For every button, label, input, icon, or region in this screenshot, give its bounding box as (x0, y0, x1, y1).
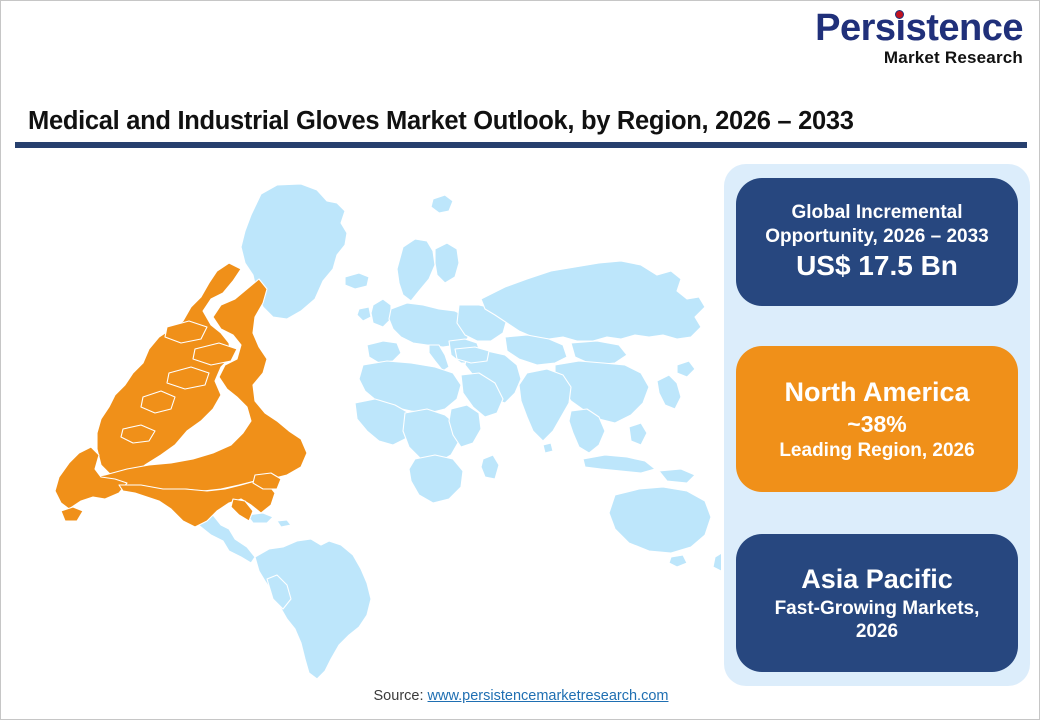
region-indonesia (583, 455, 655, 473)
region-iceland (345, 273, 369, 289)
region-korea-japan (657, 375, 681, 409)
region-svalbard (431, 195, 453, 213)
kpi-card-global-incremental-opportunity: Global Incremental Opportunity, 2026 – 2… (736, 178, 1018, 306)
region-canada (97, 263, 241, 481)
region-tasmania (669, 555, 687, 567)
world-map (15, 159, 721, 679)
infographic-page: Persistence Market Research Medical and … (0, 0, 1040, 720)
region-australia (609, 487, 711, 553)
kpi-card-3-line1: Asia Pacific (801, 563, 953, 597)
source-url-link[interactable]: www.persistencemarketresearch.com (428, 688, 669, 704)
region-papua-new-guinea (659, 469, 695, 483)
region-alaska-peninsula (61, 507, 83, 521)
kpi-card-3-line3: 2026 (856, 620, 898, 643)
company-logo: Persistence Market Research (811, 9, 1023, 66)
region-philippines (629, 423, 647, 445)
region-sri-lanka (543, 443, 553, 453)
kpi-card-2-line1: North America (784, 376, 969, 410)
kpi-card-1-value: US$ 17.5 Bn (796, 248, 958, 283)
kpi-card-fast-growing-region: Asia Pacific Fast-Growing Markets, 2026 (736, 534, 1018, 672)
kpi-card-1-line2: Opportunity, 2026 – 2033 (765, 225, 989, 248)
kpi-card-leading-region: North America ~38% Leading Region, 2026 (736, 346, 1018, 492)
region-madagascar (481, 455, 499, 479)
region-ireland (357, 307, 371, 321)
source-line: Source: www.persistencemarketresearch.co… (1, 688, 1040, 704)
kpi-card-2-value: ~38% (847, 410, 906, 439)
map-base-regions (151, 184, 721, 679)
logo-tagline-text: Market Research (811, 49, 1023, 66)
region-russia (481, 261, 705, 341)
region-scandinavia (397, 239, 435, 301)
region-kazakhstan (505, 335, 567, 365)
region-iberia (367, 341, 401, 363)
region-japan-north (677, 361, 695, 377)
region-british-isles (371, 299, 391, 327)
kpi-panel: Global Incremental Opportunity, 2026 – 2… (724, 164, 1030, 686)
region-finland (435, 243, 459, 283)
title-divider (15, 142, 1027, 148)
logo-brand-text: Persistence (811, 9, 1023, 47)
region-cuba (277, 520, 291, 527)
region-india (519, 369, 571, 441)
source-label: Source: (374, 688, 424, 704)
kpi-card-1-line1: Global Incremental (791, 201, 962, 224)
region-new-zealand (713, 551, 721, 571)
world-map-svg (15, 159, 721, 679)
region-southern-africa (409, 455, 463, 503)
kpi-card-2-line2: Leading Region, 2026 (779, 439, 974, 462)
kpi-card-3-line2: Fast-Growing Markets, (775, 597, 980, 620)
page-title: Medical and Industrial Gloves Market Out… (28, 107, 854, 136)
registered-dot-icon (895, 10, 904, 19)
region-south-america (255, 539, 371, 679)
